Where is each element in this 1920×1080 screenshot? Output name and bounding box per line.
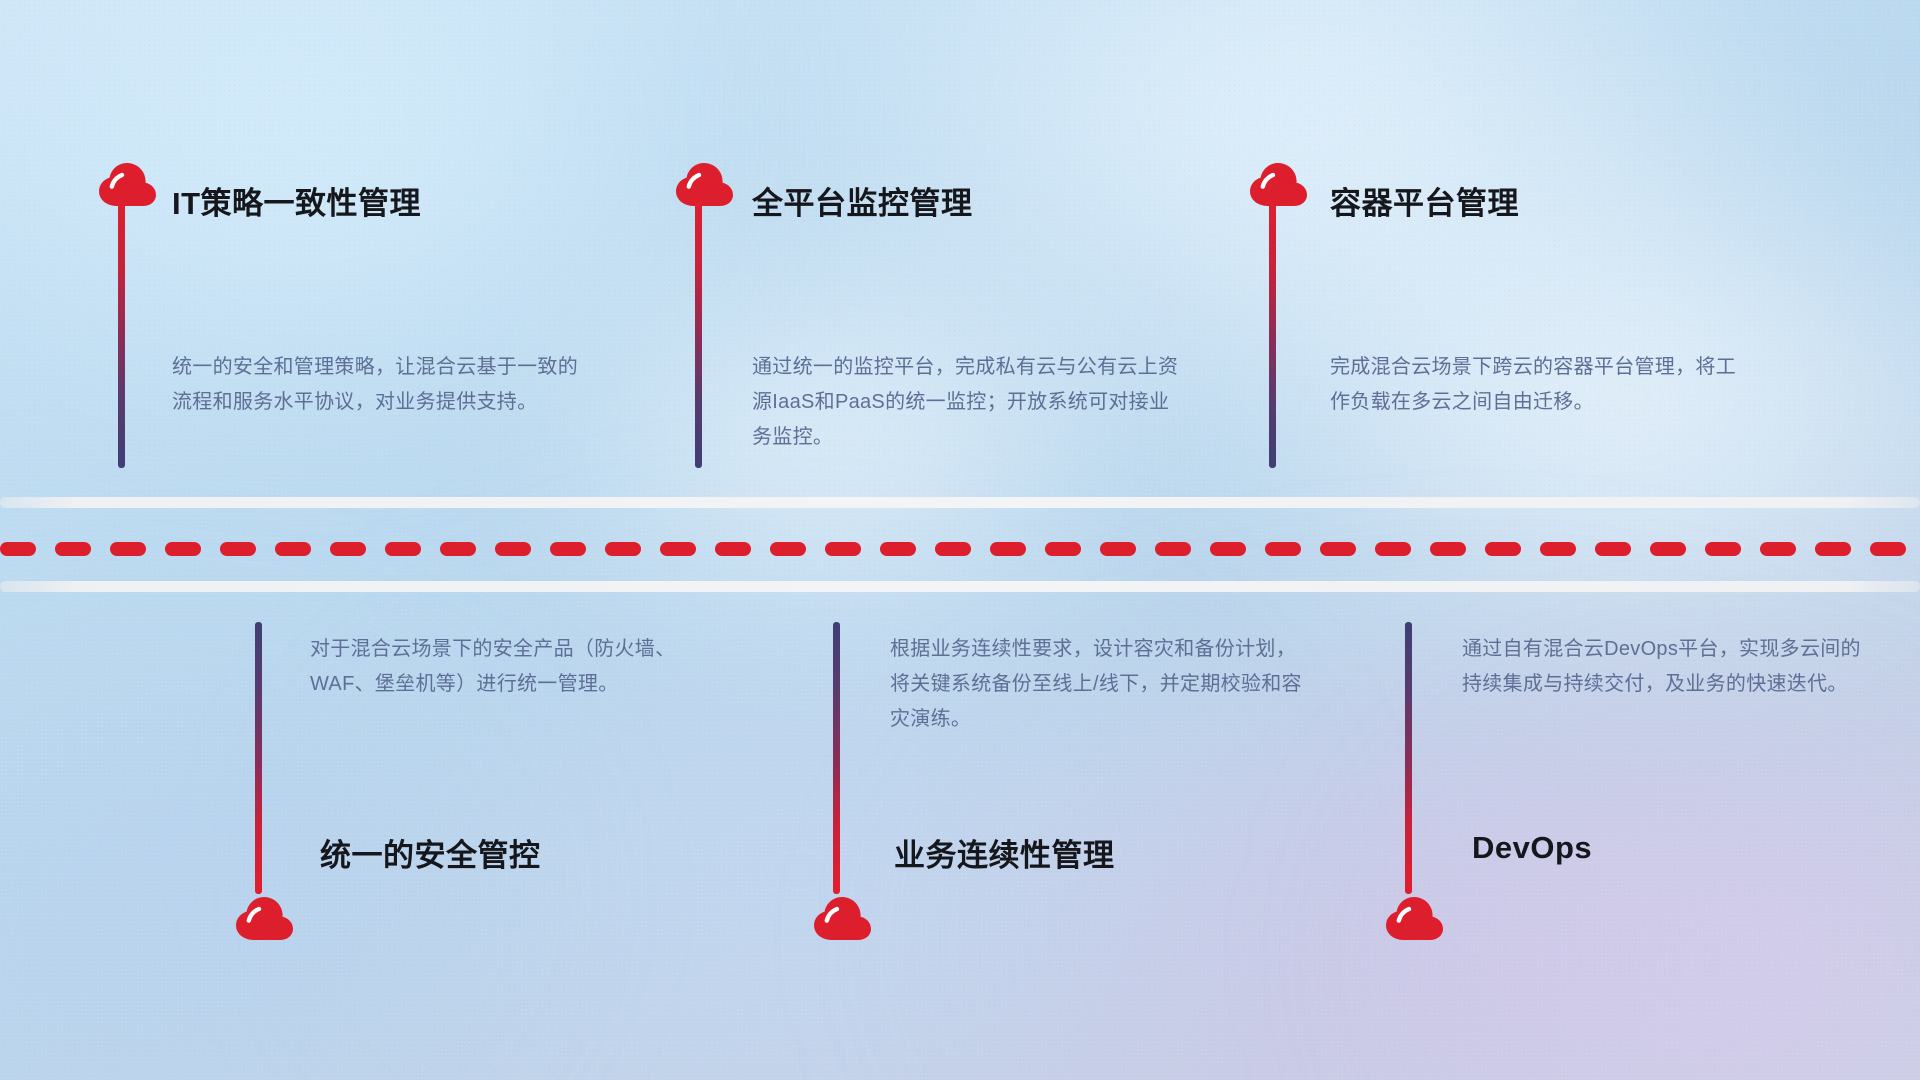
cloud-icon: [673, 160, 735, 208]
card-body-text: 通过统一的监控平台，完成私有云与公有云上资源IaaS和PaaS的统一监控；开放系…: [752, 350, 1184, 455]
card-body-text: 对于混合云场景下的安全产品（防火墙、WAF、堡垒机等）进行统一管理。: [310, 632, 718, 702]
card-heading: 全平台监控管理: [752, 178, 973, 223]
card-body-text: 通过自有混合云DevOps平台，实现多云间的持续集成与持续交付，及业务的快速迭代…: [1462, 632, 1874, 702]
dash-segment: [1155, 542, 1191, 556]
dash-segment: [55, 542, 91, 556]
connector-line: [255, 622, 262, 894]
cloud-icon: [233, 894, 295, 942]
card-heading: 业务连续性管理: [894, 830, 1115, 875]
dash-segment: [605, 542, 641, 556]
connector-line: [1269, 196, 1276, 468]
dash-segment: [165, 542, 201, 556]
dash-segment: [1650, 542, 1686, 556]
dash-segment: [1320, 542, 1356, 556]
connector-line: [695, 196, 702, 468]
dash-segment: [385, 542, 421, 556]
dash-segment: [1375, 542, 1411, 556]
dash-segment: [1595, 542, 1631, 556]
dash-segment: [220, 542, 256, 556]
dash-segment: [0, 542, 36, 556]
dash-segment: [275, 542, 311, 556]
cloud-icon: [811, 894, 873, 942]
dash-segment: [935, 542, 971, 556]
dash-segment: [715, 542, 751, 556]
cloud-icon: [1383, 894, 1445, 942]
dash-segment: [1100, 542, 1136, 556]
card-body-text: 完成混合云场景下跨云的容器平台管理，将工作负载在多云之间自由迁移。: [1330, 350, 1750, 420]
dash-segment: [1870, 542, 1906, 556]
dash-segment: [1760, 542, 1796, 556]
dash-segment: [330, 542, 366, 556]
dash-segment: [1485, 542, 1521, 556]
connector-line: [1405, 622, 1412, 894]
dash-segment: [770, 542, 806, 556]
dash-segment: [825, 542, 861, 556]
divider-rail-bottom: [0, 581, 1920, 592]
card-body-text: 统一的安全和管理策略，让混合云基于一致的流程和服务水平协议，对业务提供支持。: [172, 350, 584, 420]
card-heading: DevOps: [1472, 830, 1592, 866]
divider-rail-top: [0, 497, 1920, 508]
dash-segment: [495, 542, 531, 556]
cloud-icon: [1247, 160, 1309, 208]
connector-line: [833, 622, 840, 894]
infographic-canvas: IT策略一致性管理 统一的安全和管理策略，让混合云基于一致的流程和服务水平协议，…: [0, 0, 1920, 1080]
card-body-text: 根据业务连续性要求，设计容灾和备份计划，将关键系统备份至线上/线下，并定期校验和…: [890, 632, 1310, 737]
card-heading: 统一的安全管控: [320, 830, 541, 875]
dash-segment: [1265, 542, 1301, 556]
cloud-icon: [96, 160, 158, 208]
dash-segment: [660, 542, 696, 556]
dash-segment: [1430, 542, 1466, 556]
card-heading: 容器平台管理: [1330, 178, 1519, 223]
dash-segment: [550, 542, 586, 556]
dash-segment: [990, 542, 1026, 556]
dash-segment: [1540, 542, 1576, 556]
dash-segment: [1815, 542, 1851, 556]
dash-segment: [1210, 542, 1246, 556]
card-heading: IT策略一致性管理: [172, 178, 421, 223]
dash-segment: [110, 542, 146, 556]
dash-segment: [880, 542, 916, 556]
dash-segment: [1045, 542, 1081, 556]
connector-line: [118, 196, 125, 468]
dash-segment: [1705, 542, 1741, 556]
dash-segment: [440, 542, 476, 556]
dashed-separator: [0, 542, 1920, 556]
